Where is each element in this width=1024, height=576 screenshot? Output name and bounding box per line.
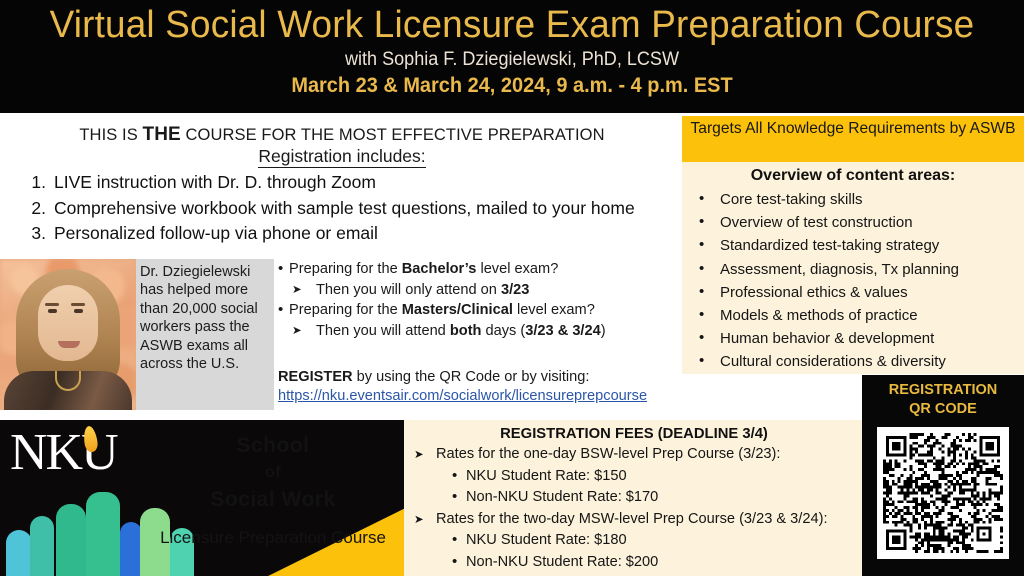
fee-row: Non-NKU Student Rate: $200 [410,552,858,574]
presenter-photo [0,259,136,410]
list-item: Standardized test-taking strategy [690,234,1024,257]
school-line-1: School [148,432,398,459]
list-number: 3. [20,221,46,247]
registration-includes-label: Registration includes: [258,146,425,168]
fees-title: REGISTRATION FEES (DEADLINE 3/4) [410,426,858,442]
hand-shape [120,522,142,576]
registration-includes-heading: Registration includes: [22,146,662,167]
list-item: Professional ethics & values [690,281,1024,304]
bachelors-answer-date: 3/23 [501,282,529,298]
masters-answer: Then you will attend both days (3/23 & 3… [278,322,678,342]
list-item: Core test-taking skills [690,188,1024,211]
qr-title-line-1: REGISTRATION [862,375,1024,400]
list-number: 2. [20,196,46,222]
content-areas-list: Core test-taking skills Overview of test… [690,188,1024,374]
bio-caption: Dr. Dziegielewski has helped more than 2… [140,263,270,373]
content-areas-panel: Overview of content areas: Core test-tak… [682,162,1024,374]
bachelors-bold: Bachelor’s [402,261,477,277]
bachelors-post: level exam? [476,261,558,277]
lead-emphasis: THE [143,124,181,145]
fee-row: Non-NKU Student Rate: $170 [410,487,858,509]
qr-code-panel: REGISTRATION QR CODE [862,375,1024,576]
presenter-line: with Sophia F. Dziegielewski, PhD, LCSW [26,47,999,72]
registration-fees-panel: REGISTRATION FEES (DEADLINE 3/4) Rates f… [404,420,862,576]
photo-eye-left [48,309,57,313]
masters-question: Preparing for the Masters/Clinical level… [278,301,678,321]
bachelors-pre: Preparing for the [289,261,402,277]
content-areas-title: Overview of content areas: [682,162,1024,188]
masters-answer-pre: Then you will attend [316,323,450,339]
register-line: REGISTER by using the QR Code or by visi… [278,368,698,387]
list-item: Overview of test construction [690,211,1024,234]
hand-shape [30,516,54,576]
registration-includes-list: 1.LIVE instruction with Dr. D. through Z… [20,170,675,247]
photo-brow-right [71,303,85,306]
masters-bold: Masters/Clinical [402,302,513,318]
school-line-2: of [148,459,398,486]
poster-root: Virtual Social Work Licensure Exam Prepa… [0,0,1024,576]
list-number: 1. [20,170,46,196]
exam-level-guidance: Preparing for the Bachelor’s level exam?… [278,260,678,342]
register-bold: REGISTER [278,369,353,385]
masters-post: level exam? [513,302,595,318]
masters-answer-bold: both [450,323,482,339]
list-text: LIVE instruction with Dr. D. through Zoo… [54,172,376,192]
bachelors-question: Preparing for the Bachelor’s level exam? [278,260,678,280]
bachelors-answer-pre: Then you will only attend on [316,282,501,298]
event-dates: March 23 & March 24, 2024, 9 a.m. - 4 p.… [26,72,999,100]
list-item: 1.LIVE instruction with Dr. D. through Z… [20,170,675,196]
targets-heading: Targets All Knowledge Requirements by AS… [682,116,1024,162]
page-title: Virtual Social Work Licensure Exam Prepa… [15,0,1008,47]
school-line-3: Social Work [148,486,398,513]
photo-mouth [58,341,80,348]
school-of-social-work-text: School of Social Work Licensure Preparat… [148,432,398,551]
list-item: Cultural considerations & diversity [690,350,1024,373]
lead-suffix: COURSE FOR THE MOST EFFECTIVE PREPARATIO… [181,126,605,144]
hand-shape [6,530,32,576]
bio-block: Dr. Dziegielewski has helped more than 2… [0,259,274,410]
fee-row: NKU Student Rate: $150 [410,466,858,488]
list-text: Comprehensive workbook with sample test … [54,198,635,218]
masters-answer-post: ) [601,323,606,339]
lead-prefix: THIS IS [79,126,142,144]
school-tagline: Licensure Preparation Course [148,525,398,551]
list-item: Models & methods of practice [690,304,1024,327]
hand-shape [56,504,86,576]
nku-logo-banner: NKU School of Social Work Licensure Prep… [0,420,404,576]
photo-face [38,285,98,361]
register-text: by using the QR Code or by visiting: [353,369,590,385]
masters-answer-mid: days ( [481,323,525,339]
hand-shape [86,492,120,576]
list-text: Personalized follow-up via phone or emai… [54,223,378,243]
nku-wordmark: NKU [10,426,117,480]
list-item: Assessment, diagnosis, Tx planning [690,258,1024,281]
photo-eye-right [74,309,83,313]
qr-title-line-2: QR CODE [862,400,1024,419]
register-instructions: REGISTER by using the QR Code or by visi… [278,368,698,406]
fee-row: Rates for the two-day MSW-level Prep Cou… [410,509,858,531]
qr-code-image[interactable] [877,427,1009,559]
photo-brow-left [45,303,59,306]
list-item: Human behavior & development [690,327,1024,350]
registration-link[interactable]: https://nku.eventsair.com/socialwork/lic… [278,387,698,406]
bachelors-answer: Then you will only attend on 3/23 [278,281,678,301]
qr-canvas [883,433,1003,553]
lead-statement: THIS IS THE COURSE FOR THE MOST EFFECTIV… [22,124,662,146]
fee-row: NKU Student Rate: $180 [410,530,858,552]
masters-answer-dates: 3/23 & 3/24 [525,323,600,339]
list-item: 2.Comprehensive workbook with sample tes… [20,196,675,222]
header-banner: Virtual Social Work Licensure Exam Prepa… [0,0,1024,113]
list-item: 3.Personalized follow-up via phone or em… [20,221,675,247]
fee-row: Rates for the one-day BSW-level Prep Cou… [410,444,858,466]
masters-pre: Preparing for the [289,302,402,318]
